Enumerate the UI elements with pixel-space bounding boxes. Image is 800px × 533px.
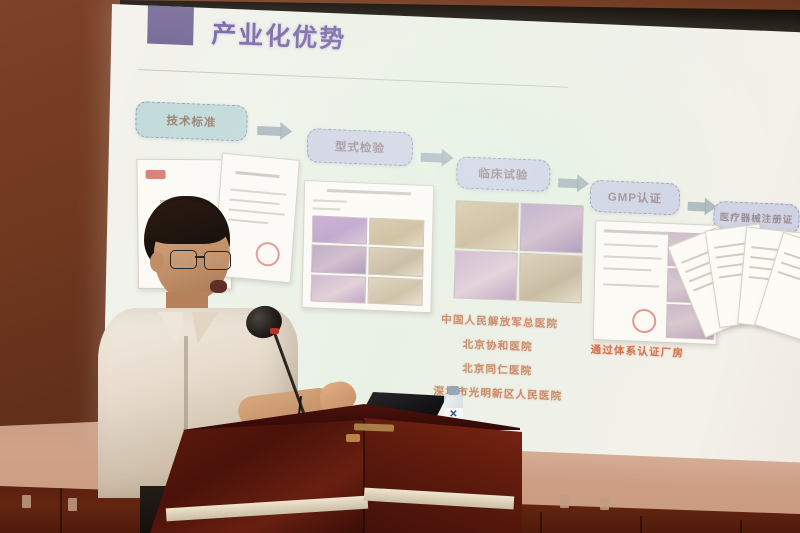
hospital-label-3: 北京同仁医院	[462, 361, 532, 379]
registration-certificate-fan	[701, 224, 800, 338]
flow-arrow-4	[688, 202, 706, 212]
hospital-building-photo-grid	[454, 200, 584, 303]
shirt-collar-left	[158, 312, 184, 344]
flow-step-1: 技术标准	[135, 101, 248, 142]
flow-arrow-2	[421, 153, 443, 163]
facility-label: 通过体系认证厂房	[590, 342, 684, 361]
microphone-indicator	[270, 328, 279, 334]
podium	[150, 404, 520, 533]
presenter-ear	[150, 252, 164, 272]
slide-title: 产业化优势	[211, 14, 347, 56]
flow-step-1-label: 技术标准	[166, 112, 216, 130]
presenter-mouth	[210, 280, 227, 293]
slide-accent-bar	[147, 4, 194, 45]
glasses-icon	[170, 250, 232, 268]
podium-latch	[346, 434, 360, 442]
flow-step-2: 型式检验	[307, 128, 414, 166]
wall-clip	[600, 497, 609, 510]
flow-step-3-label: 临床试验	[478, 165, 528, 183]
podium-seam	[363, 420, 365, 533]
flow-arrow-1	[257, 126, 281, 136]
podium-trim	[354, 423, 394, 431]
microphone-head	[243, 302, 286, 342]
hospital-label-1: 中国人民解放军总医院	[441, 312, 558, 332]
conference-presentation-photo: 产业化优势 技术标准 型式检验 临床试验 GMP认证 医疗器械注册证	[0, 0, 800, 533]
flow-step-4: GMP认证	[590, 180, 681, 216]
shirt-collar-right	[192, 312, 218, 344]
wall-clip	[22, 495, 31, 508]
flow-step-2-label: 型式检验	[335, 138, 385, 156]
flow-step-4-label: GMP认证	[608, 188, 663, 206]
podium-front-right	[364, 418, 522, 533]
hospital-label-2: 北京协和医院	[463, 337, 533, 355]
title-divider	[139, 69, 569, 88]
wall-clip	[68, 498, 77, 511]
flow-arrow-3	[558, 178, 578, 188]
wall-clip	[560, 495, 569, 508]
flow-step-3: 临床试验	[456, 156, 551, 192]
